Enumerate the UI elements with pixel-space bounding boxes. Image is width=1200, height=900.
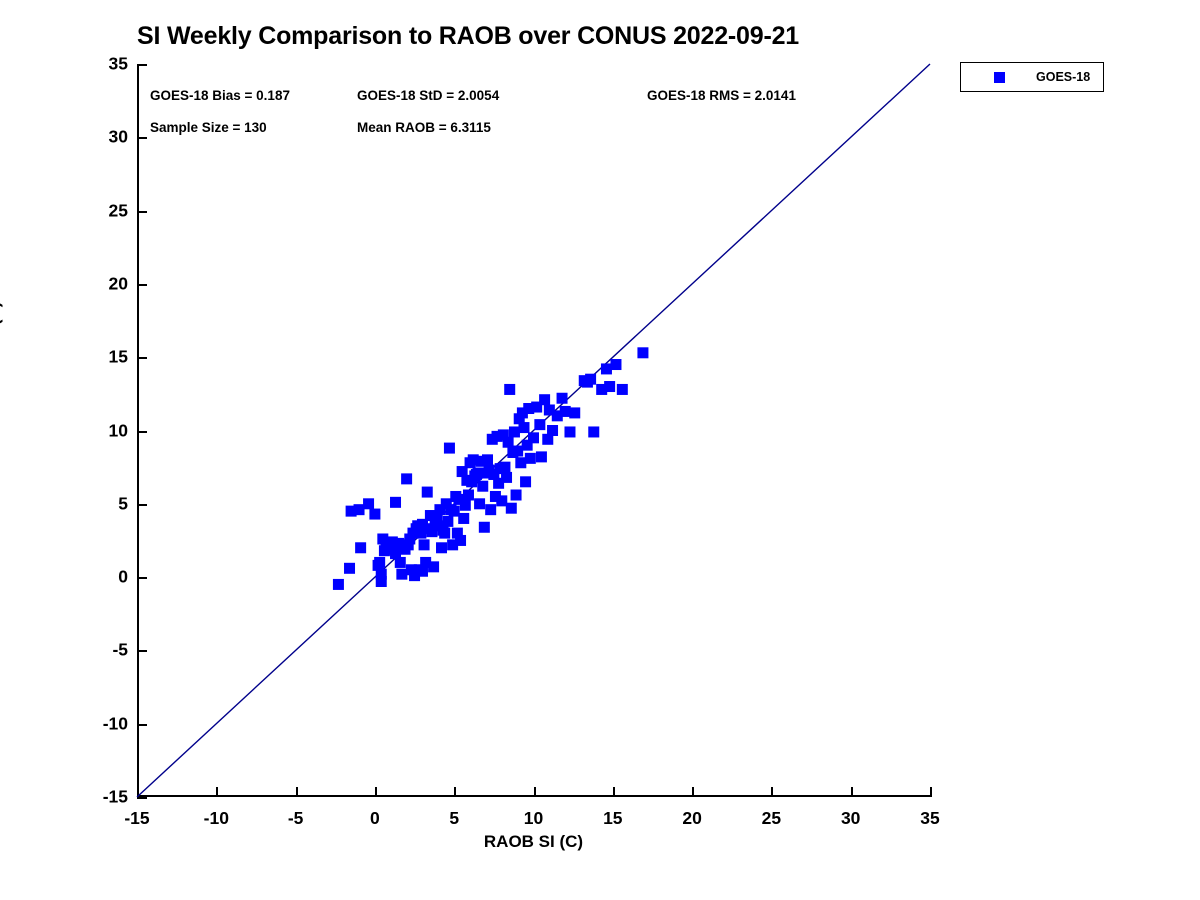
scatter-point [499, 462, 510, 473]
legend: GOES-18 [960, 62, 1104, 92]
x-tick-label: 10 [524, 808, 543, 829]
scatter-point [376, 576, 387, 587]
one-to-one-reference-line [137, 64, 930, 797]
x-axis-label: RAOB SI (C) [137, 832, 930, 852]
scatter-point [569, 407, 580, 418]
y-tick-label: 10 [109, 420, 128, 441]
x-tick-label: -15 [124, 808, 149, 829]
scatter-point [444, 443, 455, 454]
scatter-point [512, 446, 523, 457]
scatter-point [506, 503, 517, 514]
scatter-point [363, 498, 374, 509]
scatter-point [511, 490, 522, 501]
scatter-point [396, 569, 407, 580]
y-tick-label: 15 [109, 347, 128, 368]
x-tick-label: 35 [920, 808, 939, 829]
scatter-point [617, 384, 628, 395]
y-axis-label: Measured SI (C) [0, 302, 4, 430]
y-tick-label: 30 [109, 127, 128, 148]
y-tick-label: 35 [109, 54, 128, 75]
x-tick-label: 15 [603, 808, 622, 829]
chart-figure: SI Weekly Comparison to RAOB over CONUS … [0, 0, 1200, 900]
scatter-point [557, 393, 568, 404]
scatter-point [539, 394, 550, 405]
scatter-point [401, 473, 412, 484]
scatter-point [449, 506, 460, 517]
legend-marker-goes-18 [994, 72, 1005, 83]
scatter-point [585, 374, 596, 385]
x-tick-label: 25 [762, 808, 781, 829]
y-tick-label: 5 [118, 493, 128, 514]
x-tick-label: 20 [682, 808, 701, 829]
scatter-plot-canvas [137, 64, 930, 797]
scatter-point [354, 504, 365, 515]
scatter-series-goes-18 [333, 347, 649, 590]
scatter-point [355, 542, 366, 553]
scatter-point [422, 487, 433, 498]
scatter-point [601, 363, 612, 374]
y-tick-label: -10 [103, 713, 128, 734]
y-tick-label: -15 [103, 787, 128, 808]
scatter-point [509, 426, 520, 437]
scatter-point [436, 542, 447, 553]
scatter-point [520, 476, 531, 487]
scatter-point [482, 454, 493, 465]
x-tick-mark [930, 787, 932, 797]
scatter-point [395, 557, 406, 568]
scatter-point [390, 497, 401, 508]
scatter-point [460, 500, 471, 511]
scatter-point [560, 406, 571, 417]
y-tick-label: 0 [118, 567, 128, 588]
x-tick-label: -10 [204, 808, 229, 829]
scatter-point [528, 432, 539, 443]
scatter-point [525, 453, 536, 464]
scatter-point [501, 472, 512, 483]
scatter-point [515, 457, 526, 468]
scatter-point [463, 490, 474, 501]
x-tick-label: 30 [841, 808, 860, 829]
scatter-point [564, 426, 575, 437]
page-title: SI Weekly Comparison to RAOB over CONUS … [137, 22, 937, 51]
scatter-point [474, 498, 485, 509]
x-tick-label: -5 [288, 808, 304, 829]
scatter-point [455, 535, 466, 546]
x-tick-label: 5 [449, 808, 459, 829]
scatter-point [333, 579, 344, 590]
scatter-point [496, 495, 507, 506]
y-tick-label: 25 [109, 200, 128, 221]
y-tick-mark [137, 797, 147, 799]
scatter-point [637, 347, 648, 358]
scatter-point [477, 481, 488, 492]
scatter-point [610, 359, 621, 370]
y-tick-label: 20 [109, 273, 128, 294]
scatter-point [503, 437, 514, 448]
scatter-point [428, 561, 439, 572]
scatter-point [442, 516, 453, 527]
scatter-point [588, 426, 599, 437]
scatter-point [419, 539, 430, 550]
scatter-point [374, 557, 385, 568]
scatter-point [485, 504, 496, 515]
scatter-point [344, 563, 355, 574]
plot-area: -15-10-505101520253035 -15-10-5051015202… [137, 64, 930, 797]
scatter-point [518, 422, 529, 433]
x-tick-label: 0 [370, 808, 380, 829]
legend-label-goes-18: GOES-18 [1036, 70, 1090, 84]
y-tick-label: -5 [112, 640, 128, 661]
scatter-point [439, 528, 450, 539]
scatter-point [547, 425, 558, 436]
scatter-point [458, 513, 469, 524]
scatter-point [369, 509, 380, 520]
scatter-point [479, 522, 490, 533]
scatter-point [504, 384, 515, 395]
scatter-point [534, 419, 545, 430]
scatter-point [536, 451, 547, 462]
scatter-point [604, 381, 615, 392]
